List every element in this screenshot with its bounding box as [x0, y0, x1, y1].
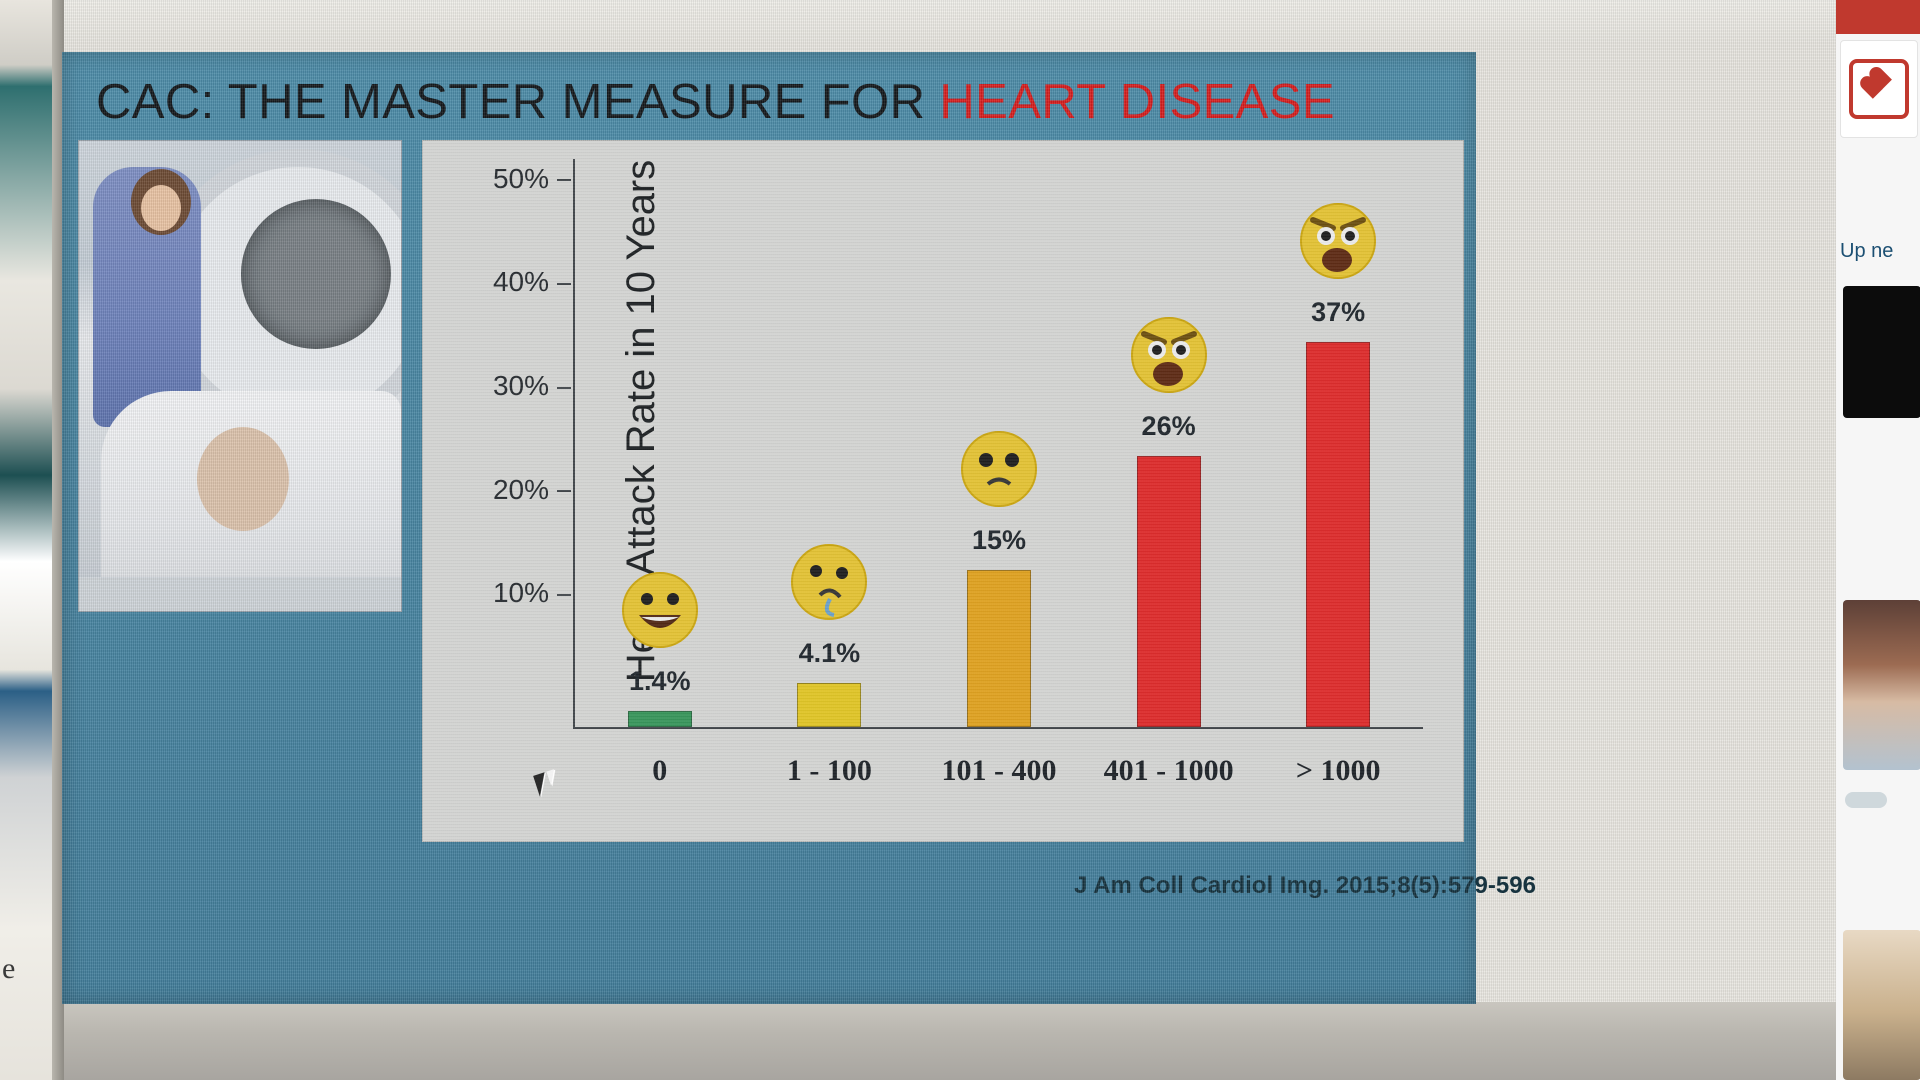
slide-title-plain: CAC: THE MASTER MEASURE FOR [96, 75, 939, 129]
ct-scanner-photo [78, 140, 402, 612]
presentation-slide: CAC: THE MASTER MEASURE FOR HEART DISEAS… [62, 52, 1476, 1004]
bar-1-100 [797, 683, 861, 727]
screen-photograph: e Up ne CAC: THE MASTER MEASURE FOR HEAR… [0, 0, 1920, 1080]
browser-sidebar [1836, 0, 1920, 1080]
slide-title-highlight: HEART DISEASE [939, 75, 1335, 129]
bar-value-label: 15% [972, 525, 1026, 556]
bar-chart: Heart Attack Rate in 10 Years 10%20%30%4… [422, 140, 1464, 842]
sidebar-video-thumbnail-3[interactable] [1843, 930, 1920, 1080]
bar-group-3: 15% [926, 159, 1072, 727]
slide-title: CAC: THE MASTER MEASURE FOR HEART DISEAS… [96, 74, 1456, 130]
y-tick-20: 20% [493, 474, 571, 506]
heart-icon [1849, 59, 1909, 119]
bar-group-2: 4.1% [756, 159, 902, 727]
tick-mark [557, 387, 571, 389]
bar-value-label: 1.4% [629, 666, 691, 697]
y-tick-label: 40% [493, 266, 549, 297]
x-label-3: 101 - 400 [926, 754, 1072, 788]
y-tick-label: 10% [493, 577, 549, 608]
x-label-2: 1 - 100 [756, 754, 902, 788]
bar-0 [628, 711, 692, 728]
bar-401-1000 [1137, 456, 1201, 727]
sidebar-logo-card[interactable] [1840, 40, 1918, 138]
y-axis-ticks: 10%20%30%40%50% [423, 159, 571, 729]
sidebar-video-thumbnail-1[interactable] [1843, 286, 1920, 418]
y-tick-50: 50% [493, 163, 571, 195]
tick-mark [557, 179, 571, 181]
worried-face-icon [790, 543, 868, 621]
citation-text: J Am Coll Cardiol Img. 2015;8(5):579-596 [1074, 872, 1536, 900]
up-next-label: Up ne [1840, 240, 1920, 263]
x-label-4: 401 - 1000 [1096, 754, 1242, 788]
page-bottom-strip [62, 1002, 1836, 1080]
technologist-face [141, 185, 181, 231]
shocked-angry-face-icon [1299, 202, 1377, 280]
room-left-text: e [2, 952, 52, 1000]
sidebar-video-thumbnail-2[interactable] [1843, 600, 1920, 770]
bar-group-1: 1.4% [587, 159, 733, 727]
x-axis-labels: 01 - 100101 - 400401 - 1000> 1000 [575, 749, 1423, 793]
y-tick-label: 50% [493, 163, 549, 194]
shocked-angry-face-icon [1130, 316, 1208, 394]
y-tick-label: 30% [493, 370, 549, 401]
bar-value-label: 26% [1142, 411, 1196, 442]
bar-group-4: 26% [1096, 159, 1242, 727]
anxious-face-icon [960, 430, 1038, 508]
bar-group-5: 37% [1265, 159, 1411, 727]
bar-101-400 [967, 570, 1031, 727]
x-label-1: 0 [587, 754, 733, 788]
y-tick-30: 30% [493, 370, 571, 402]
ct-bore [241, 199, 391, 349]
grinning-face-icon [621, 571, 699, 649]
patient-face [197, 427, 289, 531]
bar--1000 [1306, 342, 1370, 727]
browser-top-bar [1836, 0, 1920, 34]
tick-mark [557, 490, 571, 492]
technologist-figure [93, 167, 201, 427]
x-axis-line [573, 727, 1423, 729]
bar-series: 1.4%4.1%15%26%37% [575, 159, 1423, 727]
tick-mark [557, 594, 571, 596]
x-label-5: > 1000 [1265, 754, 1411, 788]
bar-value-label: 37% [1311, 297, 1365, 328]
y-tick-40: 40% [493, 266, 571, 298]
bar-value-label: 4.1% [799, 638, 861, 669]
sidebar-chip[interactable] [1845, 792, 1887, 808]
scanner-table [79, 577, 401, 611]
tick-mark [557, 283, 571, 285]
y-tick-10: 10% [493, 577, 571, 609]
y-tick-label: 20% [493, 474, 549, 505]
